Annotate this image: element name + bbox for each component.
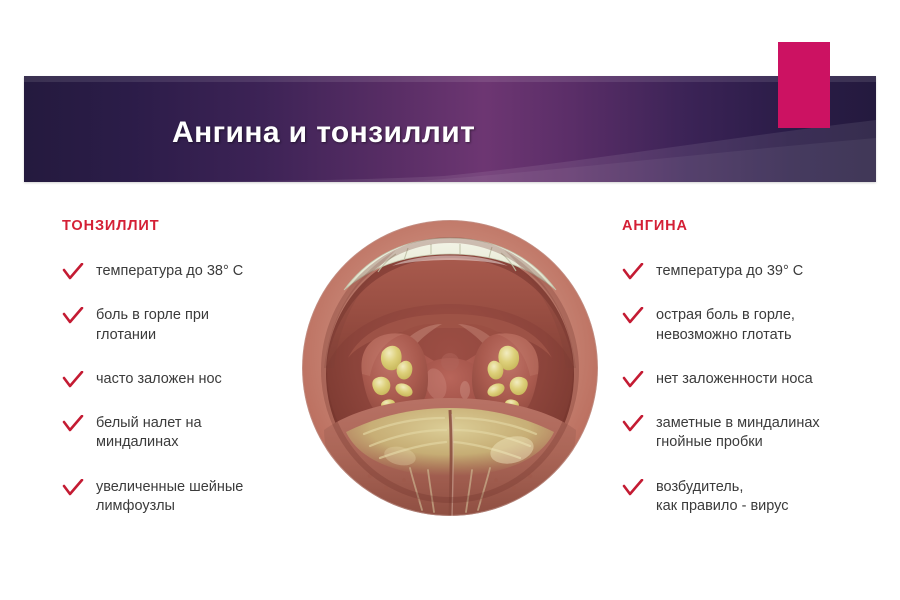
- list-item-label: острая боль в горле, невозможно глотать: [656, 306, 795, 345]
- check-icon: [62, 371, 84, 389]
- infographic-root: Ангина и тонзиллит ТОНЗИЛЛИТ температура…: [0, 0, 900, 600]
- list-item: боль в горле при глотании: [62, 306, 312, 345]
- check-icon: [62, 263, 84, 281]
- accent-rectangle: [778, 42, 830, 128]
- open-mouth-throat-illustration: [300, 218, 600, 518]
- list-item: возбудитель, как правило - вирус: [622, 478, 880, 517]
- list-item: нет заложенности носа: [622, 370, 880, 389]
- list-item: острая боль в горле, невозможно глотать: [622, 306, 880, 345]
- check-icon: [62, 479, 84, 497]
- symptom-list-angina: температура до 39° С острая боль в горле…: [622, 262, 880, 516]
- column-angina: АНГИНА температура до 39° С острая боль …: [622, 218, 880, 541]
- list-item-label: боль в горле при глотании: [96, 306, 209, 345]
- list-item-label: температура до 38° С: [96, 262, 243, 281]
- column-tonsillitis: ТОНЗИЛЛИТ температура до 38° С боль в го…: [62, 218, 312, 541]
- list-item: заметные в миндалинах гнойные пробки: [622, 414, 880, 453]
- list-item: увеличенные шейные лимфоузлы: [62, 478, 312, 517]
- check-icon: [622, 479, 644, 497]
- list-item-label: белый налет на миндалинах: [96, 414, 202, 453]
- symptom-list-tonsillitis: температура до 38° С боль в горле при гл…: [62, 262, 312, 516]
- list-item-label: температура до 39° С: [656, 262, 803, 281]
- list-item-label: часто заложен нос: [96, 370, 222, 389]
- list-item: часто заложен нос: [62, 370, 312, 389]
- check-icon: [62, 415, 84, 433]
- check-icon: [622, 307, 644, 325]
- list-item-label: нет заложенности носа: [656, 370, 813, 389]
- check-icon: [622, 371, 644, 389]
- check-icon: [62, 307, 84, 325]
- list-item-label: возбудитель, как правило - вирус: [656, 478, 789, 517]
- list-item-label: заметные в миндалинах гнойные пробки: [656, 414, 820, 453]
- list-item: температура до 39° С: [622, 262, 880, 281]
- list-item: белый налет на миндалинах: [62, 414, 312, 453]
- column-heading-angina: АНГИНА: [622, 218, 880, 234]
- list-item-label: увеличенные шейные лимфоузлы: [96, 478, 243, 517]
- check-icon: [622, 263, 644, 281]
- page-title: Ангина и тонзиллит: [172, 116, 475, 150]
- check-icon: [622, 415, 644, 433]
- column-heading-tonsillitis: ТОНЗИЛЛИТ: [62, 218, 312, 234]
- list-item: температура до 38° С: [62, 262, 312, 281]
